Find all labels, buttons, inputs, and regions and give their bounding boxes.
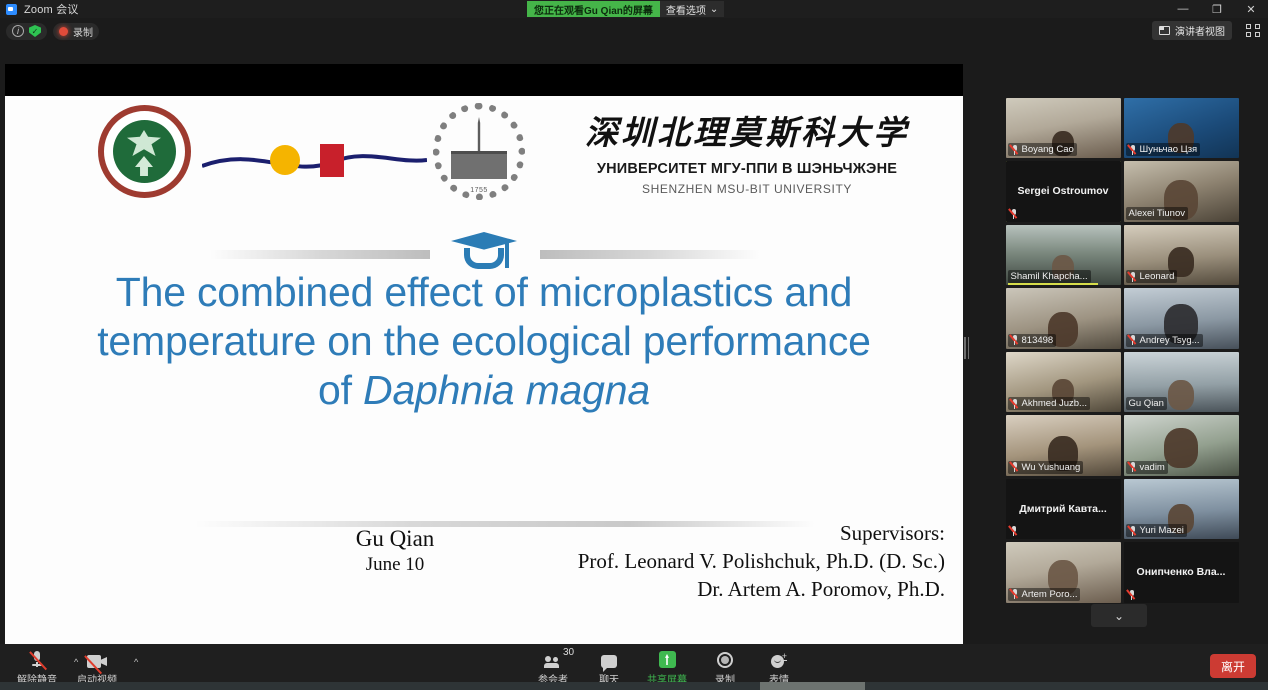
microphone-muted-icon bbox=[1010, 526, 1018, 536]
meeting-status-bar: i ✓ 录制 演讲者视图 bbox=[0, 18, 1268, 44]
chevron-down-icon: ⌄ bbox=[710, 4, 718, 15]
participant-tile[interactable]: Alexei Tiunov bbox=[1124, 161, 1239, 222]
wave-red-square bbox=[320, 144, 344, 177]
speaker-view-label: 演讲者视图 bbox=[1175, 23, 1225, 38]
supervisor-2: Dr. Artem A. Poromov, Ph.D. bbox=[425, 577, 945, 602]
participant-tile[interactable]: Akhmed Juzb... bbox=[1006, 352, 1121, 413]
maximize-button[interactable]: ❐ bbox=[1200, 0, 1234, 18]
speaking-underline bbox=[1008, 283, 1098, 285]
slide-title: The combined effect of microplastics and… bbox=[45, 268, 923, 415]
slide-title-line-2: temperature on the ecological performanc… bbox=[45, 317, 923, 366]
info-icon[interactable]: i bbox=[12, 25, 24, 37]
share-screen-button[interactable]: 共享屏幕 bbox=[638, 648, 696, 686]
participant-name-badge: Leonard bbox=[1126, 270, 1178, 283]
wave-yellow-dot bbox=[270, 145, 300, 175]
participant-name-badge: Boyang Cao bbox=[1008, 143, 1077, 156]
supervisors-heading: Supervisors: bbox=[425, 521, 945, 546]
microphone-muted-icon bbox=[1129, 145, 1137, 155]
slide-title-species-name: Daphnia magna bbox=[363, 367, 650, 413]
microphone-muted-icon bbox=[1129, 335, 1137, 345]
record-dot-icon bbox=[59, 27, 68, 36]
university-name-russian: УНИВЕРСИТЕТ МГУ-ППИ В ШЭНЬЧЖЭНЕ bbox=[541, 161, 953, 177]
university-name-english: SHENZHEN MSU-BIT UNIVERSITY bbox=[541, 182, 953, 196]
speaker-view-button[interactable]: 演讲者视图 bbox=[1152, 21, 1232, 40]
screen-share-banner: 您正在观看Gu Qian的屏幕 查看选项 ⌄ bbox=[527, 1, 724, 17]
microphone-muted-icon bbox=[1010, 209, 1018, 219]
recording-label: 录制 bbox=[73, 24, 93, 39]
reactions-icon: + bbox=[771, 653, 787, 668]
meeting-info-pill[interactable]: i ✓ bbox=[6, 23, 47, 40]
microphone-muted-icon bbox=[1011, 462, 1019, 472]
slide-title-line-3: of Daphnia magna bbox=[45, 366, 923, 415]
participant-name: Дмитрий Кавта... bbox=[1006, 479, 1121, 540]
participant-name: Yuri Mazei bbox=[1140, 525, 1184, 536]
participant-name: Shamil Khapcha... bbox=[1011, 271, 1088, 282]
university-name-chinese: 深圳北理莫斯科大学 bbox=[541, 106, 953, 154]
participant-tile[interactable]: 813498 bbox=[1006, 288, 1121, 349]
gallery-scroll-down-button[interactable]: ⌄ bbox=[1091, 604, 1147, 627]
record-icon bbox=[717, 652, 733, 668]
shared-screen-area[interactable]: 1755 深圳北理莫斯科大学 УНИВЕРСИТЕТ МГУ-ППИ В ШЭН… bbox=[5, 44, 963, 639]
microphone-muted-icon bbox=[1011, 335, 1019, 345]
msu-university-seal-icon: 1755 bbox=[433, 103, 525, 200]
window-controls: — ❐ ✕ bbox=[1166, 0, 1268, 18]
participants-button[interactable]: 30 参会者 bbox=[524, 648, 582, 686]
speaker-view-icon bbox=[1159, 26, 1170, 35]
participant-gallery[interactable]: Boyang CaoШуньчао ЦзяSergei OstroumovAle… bbox=[1004, 96, 1240, 604]
participant-tile[interactable]: Шуньчао Цзя bbox=[1124, 98, 1239, 159]
participant-name: 813498 bbox=[1022, 335, 1054, 346]
meeting-toolbar: ^ 解除静音 ^ 启动视频 30 参会者 聊天 共享屏幕 录制 + 表情 离 bbox=[0, 644, 1268, 690]
start-video-button[interactable]: ^ 启动视频 bbox=[68, 648, 126, 686]
participant-name: Akhmed Juzb... bbox=[1022, 398, 1087, 409]
microphone-muted-icon bbox=[32, 651, 42, 668]
graduation-cap-icon bbox=[451, 230, 517, 272]
participant-name: Leonard bbox=[1140, 271, 1175, 282]
participant-tile[interactable]: Leonard bbox=[1124, 225, 1239, 286]
share-screen-icon bbox=[659, 651, 676, 668]
window-title: Zoom 会议 bbox=[24, 1, 79, 17]
window-title-bar: Zoom 会议 您正在观看Gu Qian的屏幕 查看选项 ⌄ — ❐ ✕ bbox=[0, 0, 1268, 18]
zoom-icon bbox=[6, 4, 17, 15]
view-options-button[interactable]: 查看选项 ⌄ bbox=[660, 1, 724, 17]
fullscreen-icon[interactable] bbox=[1246, 24, 1260, 37]
slide-supervisors-block: Supervisors: Prof. Leonard V. Polishchuk… bbox=[425, 521, 945, 602]
participants-count: 30 bbox=[563, 647, 574, 658]
participant-tile[interactable]: Gu Qian bbox=[1124, 352, 1239, 413]
participant-name-badge: vadim bbox=[1126, 461, 1168, 474]
participant-name-badge: 813498 bbox=[1008, 334, 1057, 347]
participant-tile[interactable]: Sergei Ostroumov bbox=[1006, 161, 1121, 222]
recording-indicator[interactable]: 录制 bbox=[53, 23, 99, 40]
participant-tile[interactable]: Boyang Cao bbox=[1006, 98, 1121, 159]
bit-university-seal-icon bbox=[98, 105, 191, 198]
participant-name-badge: Shamil Khapcha... bbox=[1008, 270, 1091, 283]
presentation-slide: 1755 深圳北理莫斯科大学 УНИВЕРСИТЕТ МГУ-ППИ В ШЭН… bbox=[5, 96, 963, 674]
mute-button[interactable]: ^ 解除静音 bbox=[8, 648, 66, 686]
participant-name: Gu Qian bbox=[1129, 398, 1164, 409]
supervisor-1: Prof. Leonard V. Polishchuk, Ph.D. (D. S… bbox=[425, 549, 945, 574]
participant-name-badge: Wu Yushuang bbox=[1008, 461, 1084, 474]
panel-resize-handle[interactable] bbox=[964, 337, 970, 359]
participant-tile[interactable]: Andrey Tsyg... bbox=[1124, 288, 1239, 349]
participant-name: Alexei Tiunov bbox=[1129, 208, 1186, 219]
participant-name-badge: Yuri Mazei bbox=[1126, 524, 1187, 537]
participant-tile[interactable]: Wu Yushuang bbox=[1006, 415, 1121, 476]
leave-meeting-button[interactable]: 离开 bbox=[1210, 654, 1256, 678]
participant-name-badge: Alexei Tiunov bbox=[1126, 207, 1189, 220]
participant-name-badge: Artem Poro... bbox=[1008, 588, 1081, 601]
microphone-muted-icon bbox=[1011, 589, 1019, 599]
participant-tile[interactable]: Artem Poro... bbox=[1006, 542, 1121, 603]
microphone-muted-icon bbox=[1129, 526, 1137, 536]
chat-icon bbox=[601, 655, 617, 668]
reactions-button[interactable]: + 表情 bbox=[750, 648, 808, 686]
participant-name-badge: Gu Qian bbox=[1126, 397, 1167, 410]
microphone-muted-icon bbox=[1129, 462, 1137, 472]
slide-logo-row: 1755 深圳北理莫斯科大学 УНИВЕРСИТЕТ МГУ-ППИ В ШЭН… bbox=[5, 96, 963, 206]
slide-letterbox-bar bbox=[5, 64, 963, 96]
minimize-button[interactable]: — bbox=[1166, 0, 1200, 18]
microphone-muted-icon bbox=[1011, 145, 1019, 155]
participant-name: Sergei Ostroumov bbox=[1006, 161, 1121, 222]
participants-icon bbox=[544, 656, 562, 668]
participant-name: Boyang Cao bbox=[1022, 144, 1074, 155]
participant-name-badge: Шуньчао Цзя bbox=[1126, 143, 1201, 156]
msu-seal-year: 1755 bbox=[470, 187, 488, 194]
record-button[interactable]: 录制 bbox=[696, 648, 754, 686]
slide-title-line-1: The combined effect of microplastics and bbox=[45, 268, 923, 317]
os-taskbar bbox=[0, 682, 1268, 690]
status-bar-right-controls: 演讲者视图 bbox=[1152, 21, 1260, 40]
participant-name: vadim bbox=[1140, 462, 1165, 473]
participant-name-badge: Akhmed Juzb... bbox=[1008, 397, 1090, 410]
taskbar-active-window[interactable] bbox=[760, 682, 865, 690]
participant-name: Онипченко Вла... bbox=[1124, 542, 1239, 603]
msu-bit-wave-logo-icon bbox=[202, 140, 427, 182]
participant-name: Artem Poro... bbox=[1022, 589, 1078, 600]
participant-tile[interactable]: Дмитрий Кавта... bbox=[1006, 479, 1121, 540]
slide-divider bbox=[5, 222, 963, 266]
university-name-block: 深圳北理莫斯科大学 УНИВЕРСИТЕТ МГУ-ППИ В ШЭНЬЧЖЭН… bbox=[541, 106, 953, 196]
microphone-muted-icon bbox=[1011, 399, 1019, 409]
share-banner-text: 您正在观看Gu Qian的屏幕 bbox=[527, 1, 660, 17]
encryption-shield-icon[interactable]: ✓ bbox=[29, 25, 41, 37]
participant-name: Andrey Tsyg... bbox=[1140, 335, 1200, 346]
participant-tile[interactable]: Yuri Mazei bbox=[1124, 479, 1239, 540]
participant-tile[interactable]: Онипченко Вла... bbox=[1124, 542, 1239, 603]
participant-tile[interactable]: Shamil Khapcha... bbox=[1006, 225, 1121, 286]
camera-muted-icon bbox=[87, 655, 107, 668]
participant-name: Wu Yushuang bbox=[1022, 462, 1081, 473]
close-button[interactable]: ✕ bbox=[1234, 0, 1268, 18]
view-options-label: 查看选项 bbox=[666, 2, 706, 17]
participant-tile[interactable]: vadim bbox=[1124, 415, 1239, 476]
participant-name-badge: Andrey Tsyg... bbox=[1126, 334, 1203, 347]
chat-button[interactable]: 聊天 bbox=[580, 648, 638, 686]
video-options-chevron-icon[interactable]: ^ bbox=[134, 657, 138, 667]
microphone-muted-icon bbox=[1128, 590, 1136, 600]
participant-name: Шуньчао Цзя bbox=[1140, 144, 1198, 155]
microphone-muted-icon bbox=[1129, 272, 1137, 282]
slide-title-line-3-prefix: of bbox=[318, 367, 363, 413]
